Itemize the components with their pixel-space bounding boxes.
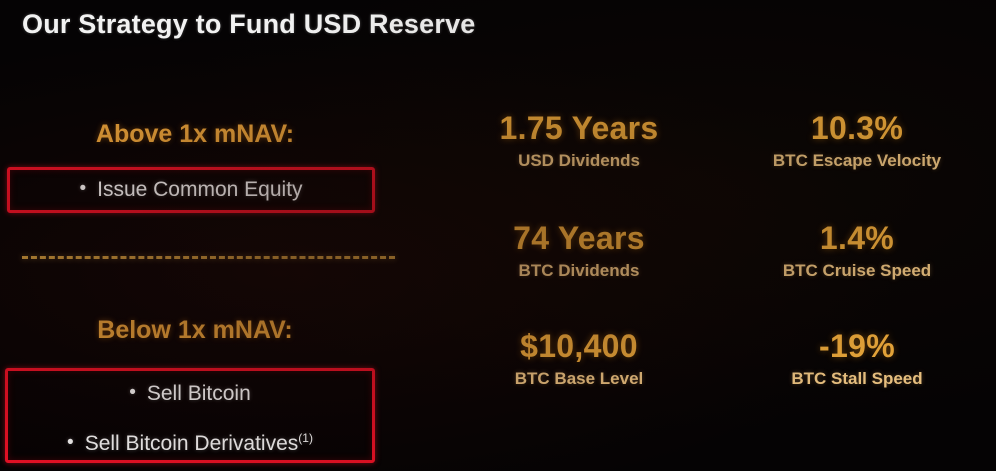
list-item: •Issue Common Equity xyxy=(10,170,372,210)
slide-canvas: Our Strategy to Fund USD Reserve Above 1… xyxy=(0,0,996,471)
metric-label: BTC Escape Velocity xyxy=(718,151,996,171)
bullet-dot-icon: • xyxy=(79,179,86,198)
metric-value: -19% xyxy=(718,328,996,365)
metric-label: BTC Base Level xyxy=(440,369,718,389)
metric-btc-escape-velocity: 10.3% BTC Escape Velocity xyxy=(718,110,996,171)
metric-value: 74 Years xyxy=(440,220,718,257)
above-mnav-heading: Above 1x mNAV: xyxy=(0,120,390,149)
list-item-label: Sell Bitcoin xyxy=(147,382,251,405)
metric-label: BTC Cruise Speed xyxy=(718,261,996,281)
footnote-marker: (1) xyxy=(298,431,313,445)
metric-value: 1.75 Years xyxy=(440,110,718,147)
metrics-grid: 1.75 Years USD Dividends 10.3% BTC Escap… xyxy=(440,110,996,420)
above-mnav-actions-box[interactable]: •Issue Common Equity xyxy=(7,167,375,213)
metric-value: $10,400 xyxy=(440,328,718,365)
bullet-dot-icon: • xyxy=(67,433,74,452)
metric-btc-stall-speed: -19% BTC Stall Speed xyxy=(718,328,996,389)
list-item-label: Sell Bitcoin Derivatives xyxy=(85,432,299,455)
list-item: •Sell Bitcoin xyxy=(8,371,372,416)
strategy-left-column: Above 1x mNAV: •Issue Common Equity Belo… xyxy=(0,104,400,471)
page-title: Our Strategy to Fund USD Reserve xyxy=(22,9,476,40)
metric-value: 10.3% xyxy=(718,110,996,147)
metric-label: BTC Stall Speed xyxy=(718,369,996,389)
metric-value: 1.4% xyxy=(718,220,996,257)
list-item-label: Issue Common Equity xyxy=(97,178,302,201)
metric-btc-cruise-speed: 1.4% BTC Cruise Speed xyxy=(718,220,996,281)
below-mnav-heading: Below 1x mNAV: xyxy=(0,316,390,345)
metric-label: USD Dividends xyxy=(440,151,718,171)
metric-usd-dividends: 1.75 Years USD Dividends xyxy=(440,110,718,171)
dashed-divider xyxy=(22,256,395,259)
below-mnav-actions-box[interactable]: •Sell Bitcoin •Sell Bitcoin Derivatives(… xyxy=(5,368,375,463)
metric-btc-dividends: 74 Years BTC Dividends xyxy=(440,220,718,281)
list-item: •Sell Bitcoin Derivatives(1) xyxy=(8,416,372,466)
bullet-dot-icon: • xyxy=(129,383,136,402)
metric-btc-base-level: $10,400 BTC Base Level xyxy=(440,328,718,389)
metric-label: BTC Dividends xyxy=(440,261,718,281)
